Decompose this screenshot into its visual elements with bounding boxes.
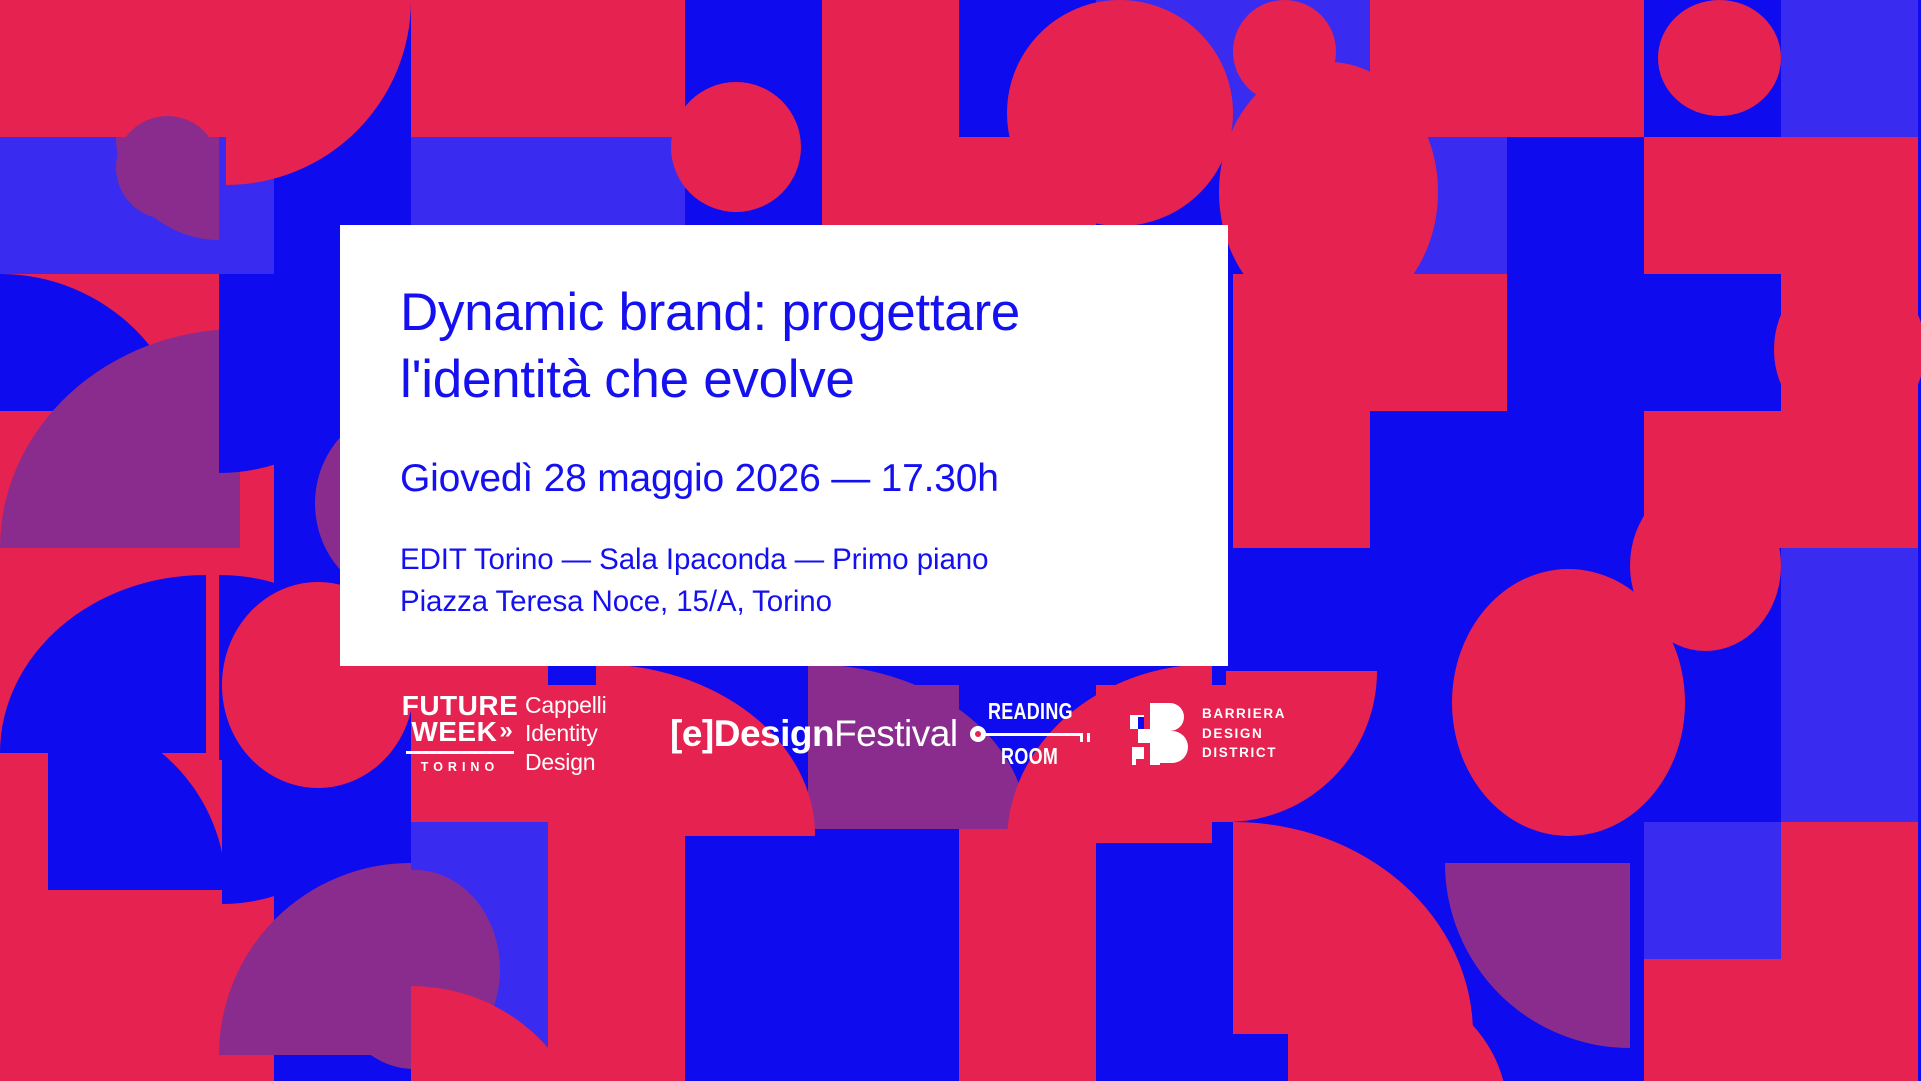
bg-circle (1219, 62, 1438, 322)
bg-circle (671, 82, 801, 212)
reading-room-line2: ROOM (1001, 745, 1058, 768)
bg-circle (1774, 267, 1921, 431)
event-title-line2: l'identità che evolve (400, 347, 1188, 414)
barriera-text-block: BARRIERA DESIGN DISTRICT (1202, 704, 1286, 763)
bg-circle (1007, 0, 1233, 226)
bg-circle (1630, 480, 1781, 651)
bg-square (548, 822, 685, 959)
logo-future-week[interactable]: FUTURE WEEK » TORINO (395, 666, 525, 801)
cappelli-line3: Design (525, 748, 607, 776)
future-week-line1: FUTURE (402, 693, 519, 719)
bg-square (959, 822, 1096, 959)
bg-square (1644, 959, 1781, 1081)
barriera-b-mark (1130, 703, 1188, 765)
bg-square (685, 822, 822, 959)
card-text-block: Dynamic brand: progettare l'identità che… (400, 280, 1188, 623)
logo-barriera-design-district[interactable]: BARRIERA DESIGN DISTRICT (1130, 666, 1360, 801)
bg-square (822, 822, 959, 959)
future-week-rule (406, 751, 514, 754)
edesign-bold: [e]Design (670, 713, 834, 754)
event-venue-line2: Piazza Teresa Noce, 15/A, Torino (400, 582, 1188, 622)
reading-room-line1: READING (988, 700, 1073, 723)
logo-reading-room[interactable]: READING ROOM (965, 666, 1095, 801)
bg-square (959, 959, 1096, 1081)
event-date: Giovedì 28 maggio 2026 — 17.30h (400, 456, 1188, 503)
key-icon (970, 726, 1090, 742)
bg-circle (1507, 0, 1610, 137)
bg-square (822, 0, 959, 137)
bg-circle (1658, 0, 1781, 116)
bg-square (1644, 137, 1781, 274)
barriera-line2: DESIGN (1202, 724, 1286, 744)
event-title-line1: Dynamic brand: progettare (400, 280, 1188, 347)
event-venue-line1: EDIT Torino — Sala Ipaconda — Primo pian… (400, 540, 1188, 580)
bg-square (548, 959, 685, 1081)
future-week-line2: WEEK (411, 719, 497, 745)
bg-square (1781, 137, 1918, 274)
cappelli-line1: Cappelli (525, 691, 607, 719)
bg-square (1096, 959, 1233, 1081)
future-week-line2-row: WEEK » (411, 719, 508, 745)
bg-square (1233, 548, 1370, 685)
bg-square (1781, 959, 1918, 1081)
bg-square (1096, 822, 1233, 959)
bg-square (1781, 0, 1918, 137)
content-card: Dynamic brand: progettare l'identità che… (340, 225, 1228, 666)
bg-square (1507, 411, 1644, 548)
bg-square (1507, 274, 1644, 411)
festival-light: Festival (834, 713, 957, 754)
edesign-festival-wordmark: [e]DesignFestival (670, 713, 958, 755)
bg-square (1781, 822, 1918, 959)
bg-square (685, 959, 822, 1081)
future-week-city: TORINO (421, 760, 499, 774)
bg-square (1507, 137, 1644, 274)
barriera-line1: BARRIERA (1202, 704, 1286, 724)
bg-square (1781, 548, 1918, 685)
bg-square (1644, 822, 1781, 959)
poster: Dynamic brand: progettare l'identità che… (0, 0, 1921, 1081)
cappelli-text-block: Cappelli Identity Design (525, 691, 607, 775)
bg-square (1370, 411, 1507, 548)
logo-edesign-festival[interactable]: [e]DesignFestival (670, 666, 970, 801)
cappelli-line2: Identity (525, 719, 607, 747)
bg-square (1644, 274, 1781, 411)
bg-square (822, 959, 959, 1081)
double-chevron-icon: » (499, 720, 508, 742)
barriera-line3: DISTRICT (1202, 743, 1286, 763)
bg-square (1781, 685, 1918, 822)
logo-strip: FUTURE WEEK » TORINO Cappelli Identity D… (340, 666, 1568, 801)
bg-square (1233, 411, 1370, 548)
